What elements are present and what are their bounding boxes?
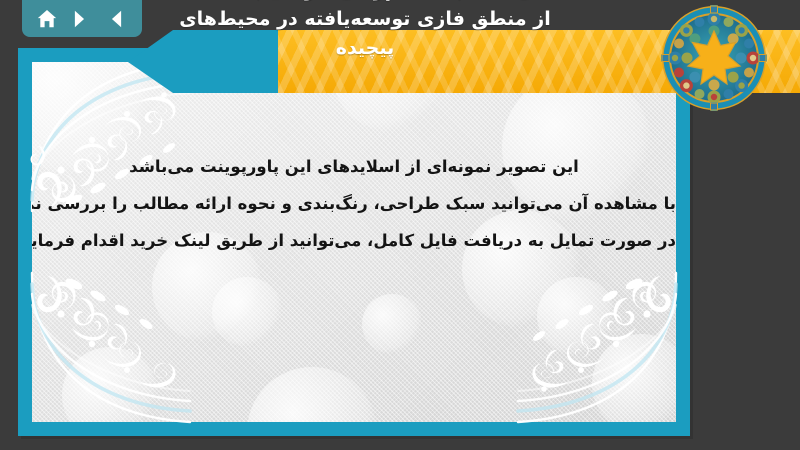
home-button[interactable] [34,6,60,32]
bokeh-circle [212,277,282,347]
slide-content-frame: این تصویر نمونه‌ای از اسلایدهای این پاور… [18,48,690,436]
bokeh-circle [62,347,158,422]
bokeh-circle [537,277,615,355]
body-line-3: در صورت تمایل به دریافت فایل کامل، می‌تو… [32,222,676,259]
body-line-1: این تصویر نمونه‌ای از اسلایدهای این پاور… [32,148,676,185]
back-button[interactable] [104,6,130,32]
bokeh-circle [592,334,676,422]
triangle-left-icon [106,8,128,30]
forward-button[interactable] [66,6,92,32]
title-line-3: پیچیده [0,34,730,63]
triangle-right-icon [68,8,90,30]
slide-content-area: این تصویر نمونه‌ای از اسلایدهای این پاور… [32,62,676,422]
medallion-rosette-icon [660,4,768,112]
slide-viewer: این تصویر نمونه‌ای از اسلایدهای این پاور… [0,0,800,450]
slide-body-text: این تصویر نمونه‌ای از اسلایدهای این پاور… [32,148,676,259]
bokeh-circle [362,294,422,354]
navigation-bar [22,0,142,37]
body-line-2: با مشاهده آن می‌توانید سبک طراحی، رنگ‌بن… [32,185,676,222]
bokeh-circle [247,367,377,422]
home-icon [36,8,58,30]
